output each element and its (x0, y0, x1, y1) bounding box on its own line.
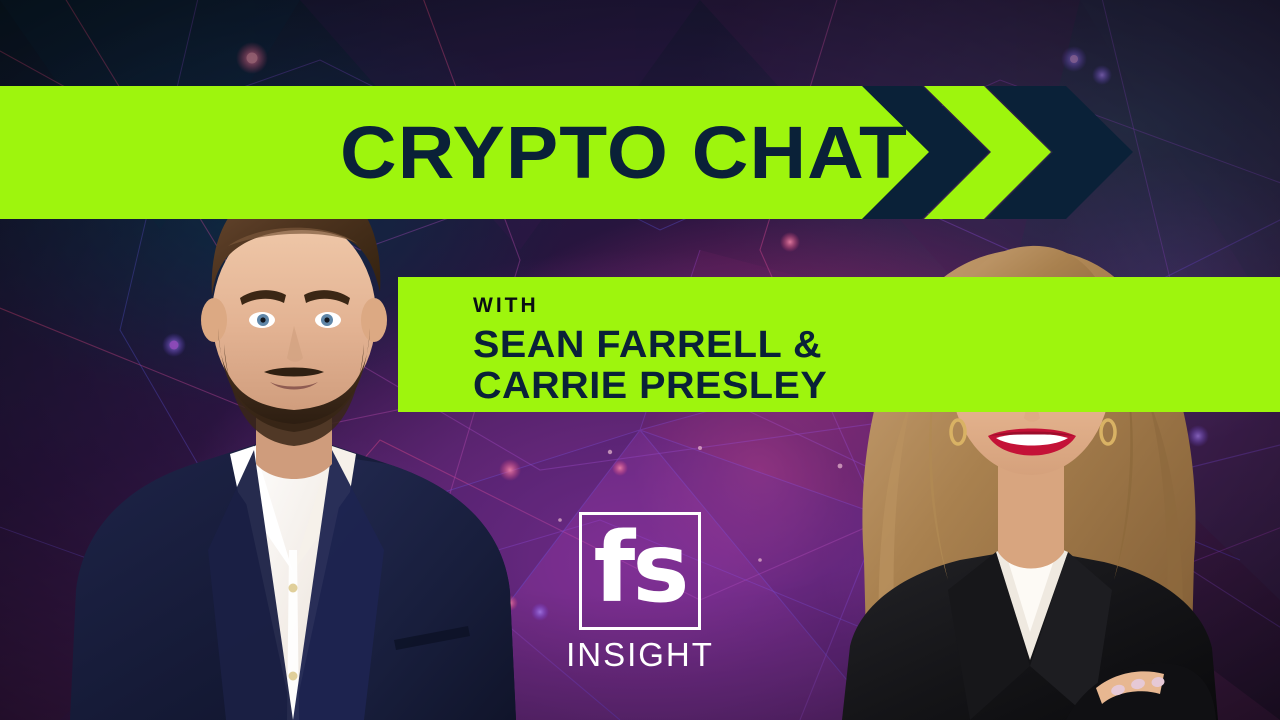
fs-insight-logo: fs INSIGHT (556, 512, 724, 680)
video-thumbnail: CRYPTO CHAT WITH SEAN FARRELL & CARRIE P… (0, 0, 1280, 720)
portrait-carrie-presley (820, 160, 1240, 720)
with-label: WITH (473, 294, 868, 318)
hosts-text-group: WITH SEAN FARRELL & CARRIE PRESLEY (398, 277, 868, 412)
logo-fs-mark: fs (594, 520, 687, 616)
host-name-line-1: SEAN FARRELL & (473, 325, 884, 366)
host-name-line-2: CARRIE PRESLEY (473, 366, 884, 407)
logo-box-outline: fs (579, 512, 701, 630)
page-title: CRYPTO CHAT (340, 86, 891, 219)
logo-wordmark: INSIGHT (566, 636, 714, 674)
